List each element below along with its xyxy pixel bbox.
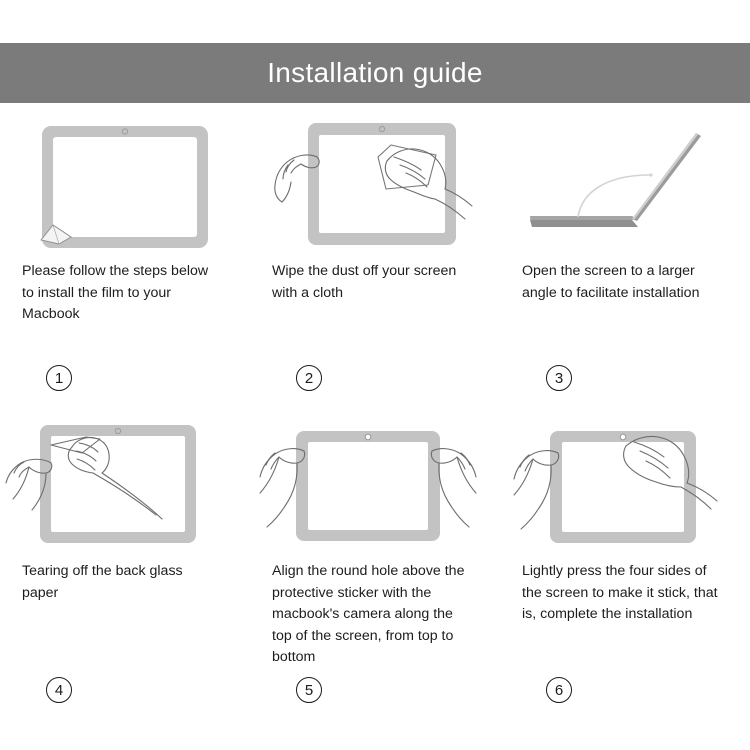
step-number-badge-1: 1 xyxy=(46,365,72,391)
step-card-6: Lightly press the four sides of the scre… xyxy=(500,413,750,715)
illustration-screen-with-peeling-film-corner xyxy=(10,113,240,253)
step-card-2: Wipe the dust off your screen with a clo… xyxy=(250,113,500,413)
step-description-2: Wipe the dust off your screen with a clo… xyxy=(272,261,472,304)
illustration-hand-pressing-film-onto-screen xyxy=(510,413,740,553)
steps-row-bottom: Tearing off the back glass paper 4 xyxy=(0,413,750,715)
step-badge-wrap-6: 6 xyxy=(546,677,750,703)
page-title: Installation guide xyxy=(267,57,483,89)
step-number-badge-5: 5 xyxy=(296,677,322,703)
step-number-badge-4: 4 xyxy=(46,677,72,703)
illustration-hands-wiping-screen-with-cloth xyxy=(260,113,490,253)
step-card-1: Please follow the steps below to install… xyxy=(0,113,250,413)
step-description-5: Align the round hole above the protectiv… xyxy=(272,561,472,669)
step-number-badge-3: 3 xyxy=(546,365,572,391)
step-card-4: Tearing off the back glass paper 4 xyxy=(0,413,250,715)
illustration-hands-tearing-off-backing-paper xyxy=(10,413,240,553)
step-number-badge-2: 2 xyxy=(296,365,322,391)
header-banner: Installation guide xyxy=(0,43,750,103)
steps-row-top: Please follow the steps below to install… xyxy=(0,113,750,413)
illustration-laptop-side-view-opening-screen xyxy=(510,113,740,253)
installation-guide-page: Installation guide xyxy=(0,0,750,750)
step-number-badge-6: 6 xyxy=(546,677,572,703)
step-description-6: Lightly press the four sides of the scre… xyxy=(522,561,722,626)
step-card-3: Open the screen to a larger angle to fac… xyxy=(500,113,750,413)
step-description-1: Please follow the steps below to install… xyxy=(22,261,222,326)
step-card-5: Align the round hole above the protectiv… xyxy=(250,413,500,715)
step-description-3: Open the screen to a larger angle to fac… xyxy=(522,261,722,304)
steps-grid: Please follow the steps below to install… xyxy=(0,113,750,715)
step-badge-wrap-3: 3 xyxy=(546,365,750,391)
illustration-two-hands-aligning-film-top-corners xyxy=(260,413,490,553)
step-description-4: Tearing off the back glass paper xyxy=(22,561,222,604)
